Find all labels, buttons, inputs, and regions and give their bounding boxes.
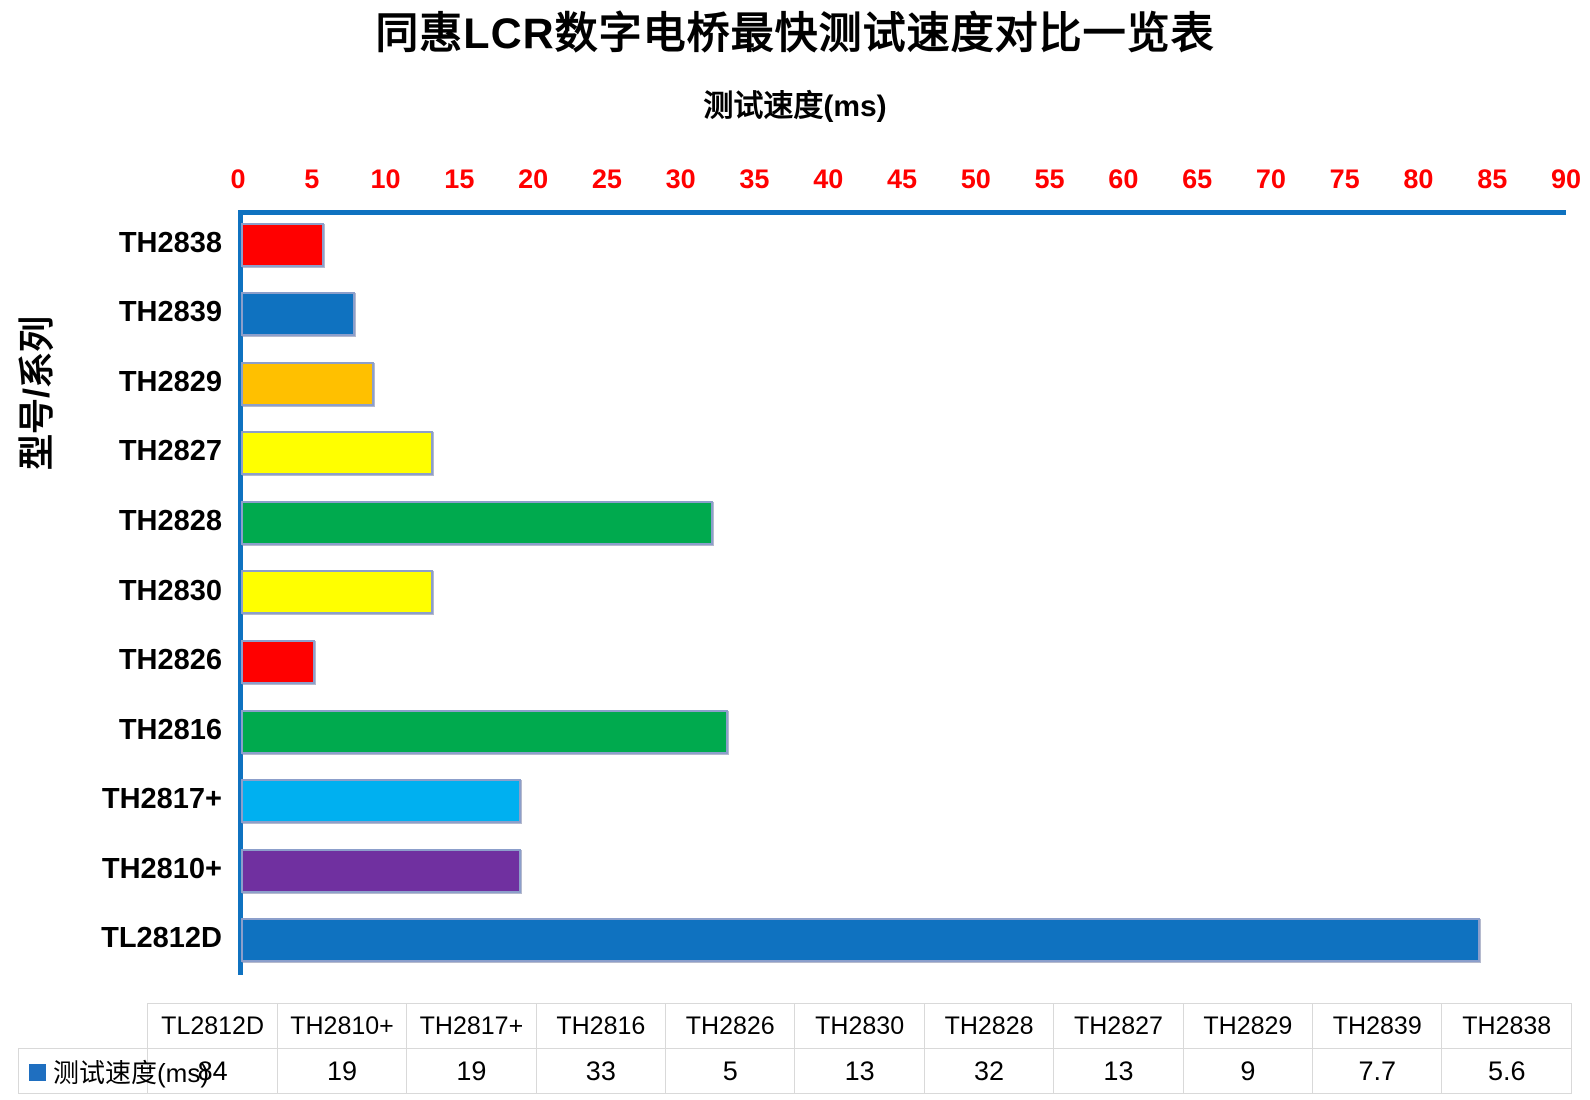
y-category-label: TH2838 — [0, 227, 222, 260]
y-category-label: TH2810+ — [0, 853, 222, 886]
table-value-cell: 5.6 — [1442, 1049, 1572, 1094]
bar[interactable] — [241, 918, 1480, 962]
y-category-label: TH2829 — [0, 366, 222, 399]
table-value-cell: 32 — [924, 1049, 1053, 1094]
x-tick-label: 45 — [887, 164, 917, 195]
bar[interactable] — [241, 223, 324, 267]
table-column-header: TH2830 — [795, 1004, 924, 1049]
x-tick-label: 90 — [1551, 164, 1581, 195]
bar[interactable] — [241, 779, 521, 823]
bar-row — [238, 419, 1566, 489]
table-column-header: TH2817+ — [407, 1004, 536, 1049]
table-row: 测试速度(ms) 84191933513321397.75.6 — [19, 1049, 1572, 1094]
table-value-cell: 5 — [666, 1049, 795, 1094]
bar-row — [238, 627, 1566, 697]
y-category-label: TH2839 — [0, 296, 222, 329]
x-axis-tick-labels: 051015202530354045505560657075808590 — [0, 164, 1590, 198]
y-category-label: TH2826 — [0, 644, 222, 677]
table-series-label: 测试速度(ms) — [53, 1058, 209, 1088]
table-value-cell: 9 — [1183, 1049, 1312, 1094]
table-header-row: TL2812DTH2810+TH2817+TH2816TH2826TH2830T… — [19, 1004, 1572, 1049]
x-tick-label: 5 — [304, 164, 319, 195]
x-tick-label: 35 — [739, 164, 769, 195]
x-tick-label: 20 — [518, 164, 548, 195]
table-value-cell: 7.7 — [1313, 1049, 1442, 1094]
bar-row — [238, 766, 1566, 836]
table-value-cell: 13 — [795, 1049, 924, 1094]
x-tick-label: 60 — [1108, 164, 1138, 195]
x-tick-label: 75 — [1330, 164, 1360, 195]
y-category-label: TH2828 — [0, 505, 222, 538]
bar-row — [238, 488, 1566, 558]
bar-row — [238, 905, 1566, 975]
bar[interactable] — [241, 570, 433, 614]
bar-row — [238, 280, 1566, 350]
table-column-header: TH2828 — [924, 1004, 1053, 1049]
table-column-header: TL2812D — [148, 1004, 277, 1049]
bar-row — [238, 210, 1566, 280]
bar[interactable] — [241, 431, 433, 475]
x-tick-label: 25 — [592, 164, 622, 195]
bar[interactable] — [241, 710, 728, 754]
table-corner-cell — [19, 1004, 148, 1049]
chart-title: 同惠LCR数字电桥最快测试速度对比一览表 — [0, 8, 1590, 60]
table-column-header: TH2839 — [1313, 1004, 1442, 1049]
table-column-header: TH2816 — [536, 1004, 665, 1049]
bar[interactable] — [241, 292, 355, 336]
table-series-label-cell: 测试速度(ms) — [19, 1049, 148, 1094]
table-column-header: TH2826 — [666, 1004, 795, 1049]
y-category-label: TL2812D — [0, 922, 222, 955]
x-tick-label: 85 — [1477, 164, 1507, 195]
table-value-cell: 19 — [407, 1049, 536, 1094]
plot-area — [238, 210, 1566, 975]
table-column-header: TH2810+ — [277, 1004, 406, 1049]
bar[interactable] — [241, 849, 521, 893]
table-column-header: TH2827 — [1054, 1004, 1183, 1049]
bar-row — [238, 697, 1566, 767]
x-tick-label: 40 — [813, 164, 843, 195]
bar-row — [238, 836, 1566, 906]
y-category-label: TH2827 — [0, 435, 222, 468]
bar-row — [238, 558, 1566, 628]
bar[interactable] — [241, 362, 374, 406]
x-tick-label: 30 — [666, 164, 696, 195]
x-tick-label: 65 — [1182, 164, 1212, 195]
chart-subtitle: 测试速度(ms) — [0, 88, 1590, 126]
bar[interactable] — [241, 640, 315, 684]
x-tick-label: 55 — [1035, 164, 1065, 195]
table-column-header: TH2829 — [1183, 1004, 1312, 1049]
x-tick-label: 70 — [1256, 164, 1286, 195]
y-category-label: TH2816 — [0, 714, 222, 747]
x-tick-label: 0 — [230, 164, 245, 195]
x-tick-label: 50 — [961, 164, 991, 195]
table-value-cell: 13 — [1054, 1049, 1183, 1094]
bar-row — [238, 349, 1566, 419]
data-table: TL2812DTH2810+TH2817+TH2816TH2826TH2830T… — [18, 1003, 1572, 1094]
x-tick-label: 80 — [1403, 164, 1433, 195]
table-value-cell: 19 — [277, 1049, 406, 1094]
x-tick-label: 15 — [444, 164, 474, 195]
x-tick-label: 10 — [371, 164, 401, 195]
table-value-cell: 33 — [536, 1049, 665, 1094]
bar[interactable] — [241, 501, 713, 545]
y-category-label: TH2830 — [0, 575, 222, 608]
legend-swatch-icon — [29, 1064, 46, 1081]
table-column-header: TH2838 — [1442, 1004, 1572, 1049]
y-category-label: TH2817+ — [0, 783, 222, 816]
